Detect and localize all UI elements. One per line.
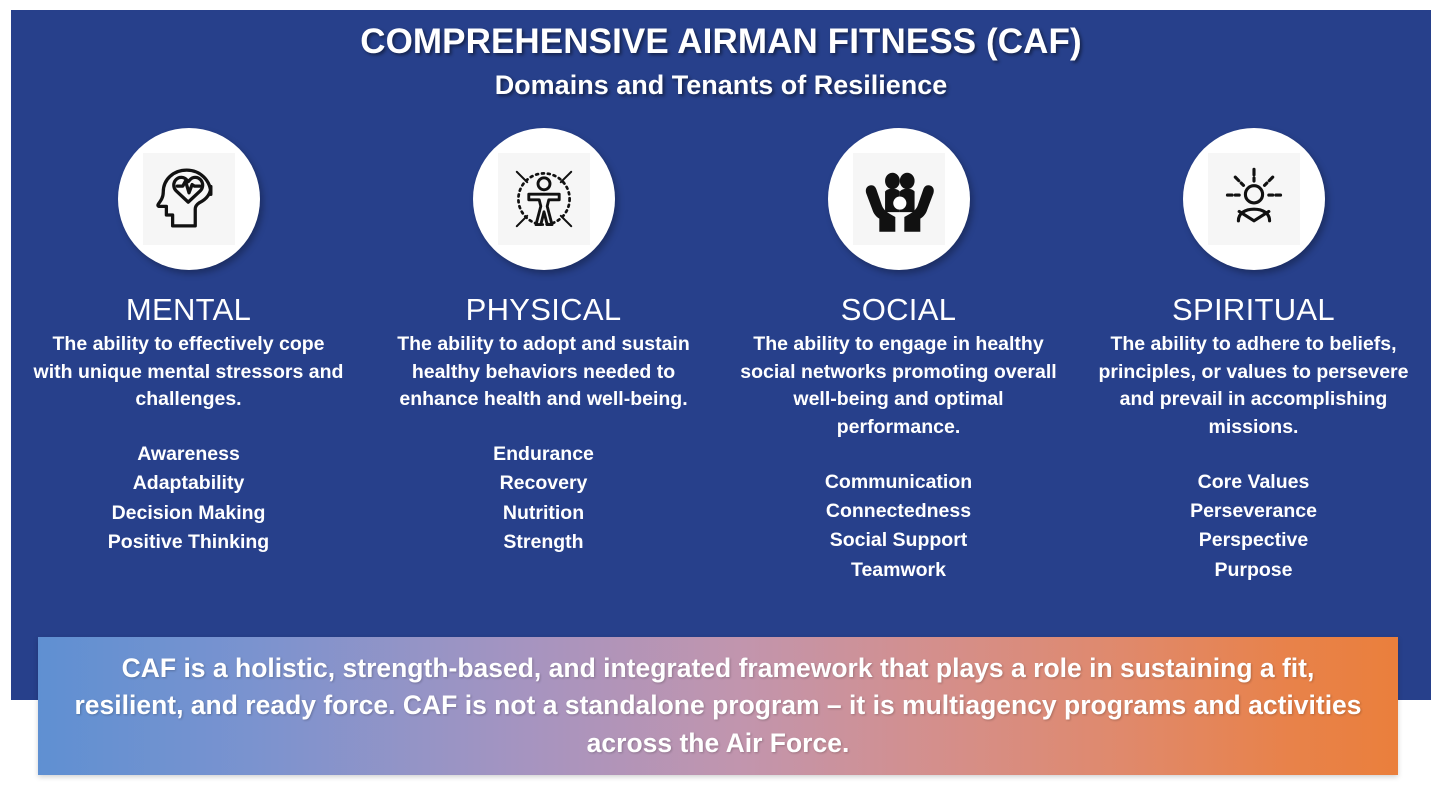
summary-banner-text: CAF is a holistic, strength-based, and i…: [38, 650, 1398, 763]
header: COMPREHENSIVE AIRMAN FITNESS (CAF) Domai…: [0, 22, 1442, 101]
tenet-list-mental: Awareness Adaptability Decision Making P…: [108, 440, 269, 557]
meditating-person-rays-icon: [1208, 153, 1300, 245]
domain-columns: MENTAL The ability to effectively cope w…: [11, 128, 1431, 585]
domain-description-mental: The ability to effectively cope with uni…: [25, 331, 353, 414]
tenet-item: Positive Thinking: [108, 528, 269, 557]
tenet-item: Decision Making: [108, 499, 269, 528]
domain-icon-circle-mental: [118, 128, 260, 270]
domain-column-social: SOCIAL The ability to engage in healthy …: [721, 128, 1076, 585]
domain-title-physical: PHYSICAL: [466, 294, 622, 325]
domain-icon-circle-social: [828, 128, 970, 270]
tenet-item: Awareness: [108, 440, 269, 469]
tenet-item: Social Support: [825, 526, 972, 555]
domain-column-spiritual: SPIRITUAL The ability to adhere to belie…: [1076, 128, 1431, 585]
tenet-item: Strength: [493, 528, 594, 557]
tenet-item: Perseverance: [1190, 497, 1317, 526]
head-heartbeat-icon: [143, 153, 235, 245]
hands-holding-family-icon: [853, 153, 945, 245]
page-title: COMPREHENSIVE AIRMAN FITNESS (CAF): [0, 22, 1442, 62]
tenet-list-spiritual: Core Values Perseverance Perspective Pur…: [1190, 468, 1317, 585]
domain-description-spiritual: The ability to adhere to beliefs, princi…: [1083, 331, 1425, 442]
tenet-list-social: Communication Connectedness Social Suppo…: [825, 468, 972, 585]
domain-column-mental: MENTAL The ability to effectively cope w…: [11, 128, 366, 557]
tenet-item: Core Values: [1190, 468, 1317, 497]
tenet-item: Purpose: [1190, 556, 1317, 585]
domain-description-social: The ability to engage in healthy social …: [728, 331, 1070, 442]
summary-banner: CAF is a holistic, strength-based, and i…: [38, 637, 1398, 775]
domain-title-mental: MENTAL: [126, 294, 251, 325]
tenet-item: Recovery: [493, 469, 594, 498]
page-subtitle: Domains and Tenants of Resilience: [0, 70, 1442, 101]
domain-icon-circle-physical: [473, 128, 615, 270]
tenet-list-physical: Endurance Recovery Nutrition Strength: [493, 440, 594, 557]
domain-column-physical: PHYSICAL The ability to adopt and sustai…: [366, 128, 721, 557]
infographic-canvas: COMPREHENSIVE AIRMAN FITNESS (CAF) Domai…: [0, 0, 1442, 788]
domain-description-physical: The ability to adopt and sustain healthy…: [373, 331, 715, 414]
domain-icon-circle-spiritual: [1183, 128, 1325, 270]
tenet-item: Connectedness: [825, 497, 972, 526]
tenet-item: Adaptability: [108, 469, 269, 498]
domain-title-spiritual: SPIRITUAL: [1172, 294, 1335, 325]
tenet-item: Endurance: [493, 440, 594, 469]
tenet-item: Nutrition: [493, 499, 594, 528]
tenet-item: Perspective: [1190, 526, 1317, 555]
tenet-item: Communication: [825, 468, 972, 497]
domain-title-social: SOCIAL: [841, 294, 957, 325]
tenet-item: Teamwork: [825, 556, 972, 585]
body-vitruvian-icon: [498, 153, 590, 245]
